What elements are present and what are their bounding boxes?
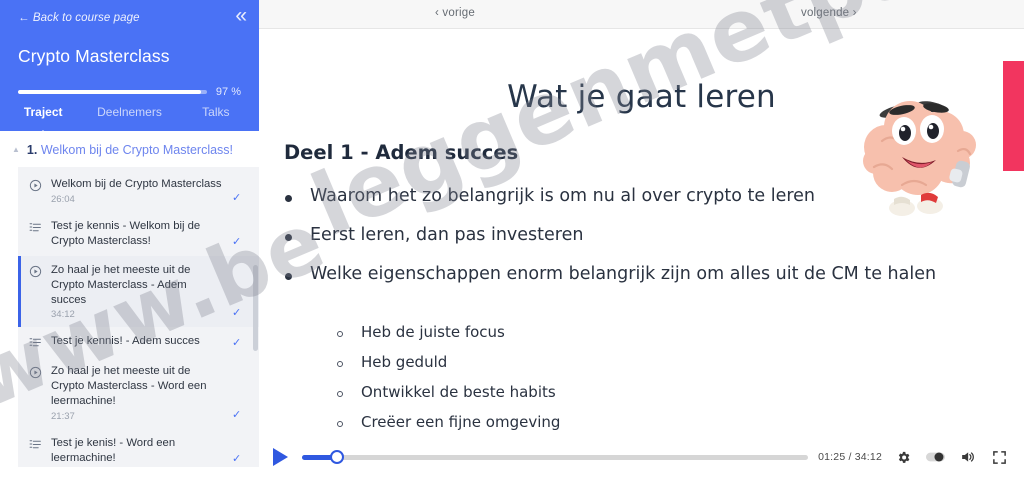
video-slide-area[interactable]: Wat je gaat leren Deel 1 - Adem succes W…	[259, 29, 1024, 433]
lesson-title: Test je kennis - Welkom bij de Crypto Ma…	[51, 219, 224, 249]
progress-percent-label: 97 %	[216, 86, 241, 98]
back-to-course-row: ← Back to course page	[18, 12, 241, 24]
play-circle-icon	[28, 177, 43, 192]
sidebar-tabs: Traject Deelnemers Talks	[0, 103, 259, 131]
subbullet-text: Creëer een fijne omgeving	[361, 413, 560, 431]
course-progress: 97 %	[18, 86, 241, 98]
accent-block	[1003, 61, 1024, 171]
caret-up-icon[interactable]: ▲	[12, 146, 20, 154]
tab-traject[interactable]: Traject	[0, 103, 86, 131]
lesson-text: Zo haal je het meeste uit de Crypto Mast…	[51, 263, 224, 321]
main-content: ‹ vorige volgende › Wat je gaat leren De…	[259, 0, 1024, 481]
lesson-duration: 34:12	[51, 309, 224, 320]
video-player-controls: 01:25 / 34:12	[259, 433, 1024, 481]
brain-mascot-icon	[858, 77, 986, 222]
play-circle-icon	[28, 364, 43, 379]
bullet-text: Welke eigenschappen enorm belangrijk zij…	[310, 264, 936, 286]
slide-bullet: Eerst leren, dan pas investeren	[285, 225, 984, 247]
seek-track	[302, 455, 808, 460]
sidebar-body: ▲ 1. Welkom bij de Crypto Masterclass! W…	[0, 131, 259, 481]
lesson-item[interactable]: Test je kennis! - Adem succes✓	[18, 327, 259, 357]
chapter-header[interactable]: ▲ 1. Welkom bij de Crypto Masterclass!	[0, 131, 259, 167]
lesson-title: Zo haal je het meeste uit de Crypto Mast…	[51, 263, 224, 308]
sidebar-scrollbar[interactable]	[253, 265, 258, 351]
lesson-title: Zo haal je het meeste uit de Crypto Mast…	[51, 364, 224, 409]
lesson-item[interactable]: Zo haal je het meeste uit de Crypto Mast…	[18, 256, 259, 328]
subbullet-circle-icon	[337, 331, 343, 337]
chapter-title: 1. Welkom bij de Crypto Masterclass!	[27, 143, 233, 157]
slide-bullet: Welke eigenschappen enorm belangrijk zij…	[285, 264, 984, 286]
lesson-list: Welkom bij de Crypto Masterclass26:04✓Te…	[18, 167, 259, 467]
lesson-duration: 21:37	[51, 411, 224, 422]
lesson-title: Test je kennis! - Adem succes	[51, 334, 224, 349]
seek-bar[interactable]	[302, 449, 808, 465]
slide-subbullet: Creëer een fijne omgeving	[337, 413, 560, 431]
slide-subbullet: Ontwikkel de beste habits	[337, 383, 560, 401]
sidebar-header: ← Back to course page « Crypto Mastercla…	[0, 0, 259, 131]
lesson-item[interactable]: Welkom bij de Crypto Masterclass26:04✓	[18, 170, 259, 212]
lesson-text: Welkom bij de Crypto Masterclass26:04	[51, 177, 224, 205]
subbullet-circle-icon	[337, 421, 343, 427]
play-circle-icon	[28, 263, 43, 278]
subbullet-text: Heb geduld	[361, 353, 447, 371]
next-lesson-button[interactable]: volgende ›	[801, 7, 857, 19]
lesson-navbar: ‹ vorige volgende ›	[259, 0, 1024, 29]
lesson-completed-check-icon: ✓	[232, 408, 245, 422]
course-player-page: ← Back to course page « Crypto Mastercla…	[0, 0, 1024, 481]
slide-subbullet: Heb geduld	[337, 353, 560, 371]
tab-deelnemers[interactable]: Deelnemers	[86, 103, 172, 131]
bullet-text: Eerst leren, dan pas investeren	[310, 225, 583, 247]
subbullet-text: Heb de juiste focus	[361, 323, 505, 341]
progress-track	[18, 90, 207, 94]
chapter-number: 1.	[27, 143, 37, 157]
subbullet-circle-icon	[337, 361, 343, 367]
lesson-item[interactable]: Zo haal je het meeste uit de Crypto Mast…	[18, 357, 259, 429]
settings-gear-icon[interactable]	[892, 450, 914, 465]
lesson-item[interactable]: Ontmoet jouw docenten!✓	[18, 473, 259, 481]
lesson-text: Zo haal je het meeste uit de Crypto Mast…	[51, 364, 224, 422]
lesson-item[interactable]: Test je kenis! - Word een leermachine!✓	[18, 429, 259, 473]
slide-subtitle: Deel 1 - Adem succes	[284, 141, 518, 164]
quiz-list-icon	[28, 436, 43, 451]
lesson-text: Test je kenis! - Word een leermachine!	[51, 436, 224, 466]
lesson-completed-check-icon: ✓	[232, 306, 245, 320]
lesson-title: Test je kenis! - Word een leermachine!	[51, 436, 224, 466]
tab-talks[interactable]: Talks	[173, 103, 259, 131]
lesson-text: Test je kennis! - Adem succes	[51, 334, 224, 349]
progress-fill	[18, 90, 201, 94]
lesson-item[interactable]: Test je kennis - Welkom bij de Crypto Ma…	[18, 212, 259, 256]
subbullet-circle-icon	[337, 391, 343, 397]
theater-toggle-icon[interactable]	[924, 451, 946, 463]
lesson-completed-check-icon: ✓	[232, 235, 245, 249]
course-sidebar: ← Back to course page « Crypto Mastercla…	[0, 0, 259, 481]
seek-thumb[interactable]	[330, 450, 344, 464]
play-icon[interactable]	[273, 448, 288, 466]
slide-subbullet: Heb de juiste focus	[337, 323, 560, 341]
back-to-course-link[interactable]: ← Back to course page	[18, 12, 140, 24]
bullet-text: Waarom het zo belangrijk is om nu al ove…	[310, 186, 815, 208]
time-label: 01:25 / 34:12	[818, 451, 882, 463]
lesson-title: Welkom bij de Crypto Masterclass	[51, 177, 224, 192]
course-title: Crypto Masterclass	[18, 46, 241, 67]
bullet-dot-icon	[285, 195, 292, 202]
fullscreen-icon[interactable]	[988, 450, 1010, 465]
quiz-list-icon	[28, 219, 43, 234]
subbullet-text: Ontwikkel de beste habits	[361, 383, 556, 401]
slide-subbullets: Heb de juiste focusHeb geduldOntwikkel d…	[337, 323, 560, 433]
previous-lesson-button[interactable]: ‹ vorige	[435, 7, 475, 19]
quiz-list-icon	[28, 334, 43, 349]
lesson-completed-check-icon: ✓	[232, 336, 245, 350]
bullet-dot-icon	[285, 273, 292, 280]
bullet-dot-icon	[285, 234, 292, 241]
lesson-completed-check-icon: ✓	[232, 452, 245, 466]
double-chevron-left-icon[interactable]: «	[235, 5, 247, 26]
volume-icon[interactable]	[956, 449, 978, 465]
lesson-text: Test je kennis - Welkom bij de Crypto Ma…	[51, 219, 224, 249]
lesson-duration: 26:04	[51, 194, 224, 205]
chapter-label: Welkom bij de Crypto Masterclass!	[41, 143, 233, 157]
lesson-completed-check-icon: ✓	[232, 191, 245, 205]
